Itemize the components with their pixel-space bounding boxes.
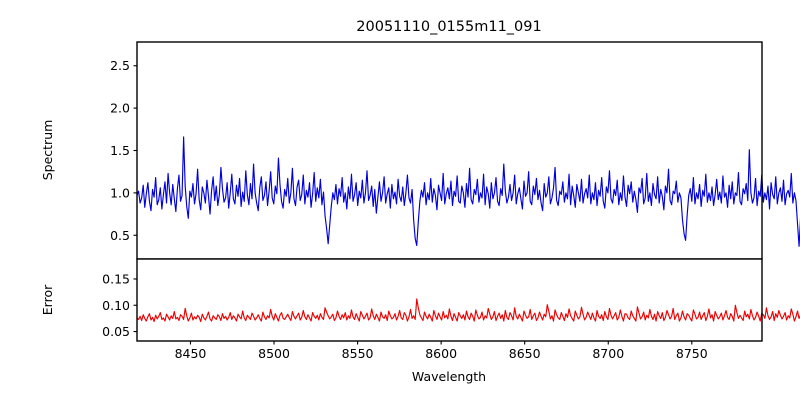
x-axis-label: Wavelength	[412, 369, 486, 384]
x-tick-label: 8550	[342, 346, 374, 361]
figure-title: 20051110_0155m11_091	[356, 19, 541, 35]
error-plot-area	[137, 259, 762, 341]
y-tick-label: 2.0	[110, 101, 130, 116]
y-tick-label: 0.5	[110, 228, 130, 243]
spectrum-y-axis-label: Spectrum	[40, 120, 55, 181]
spectrum-plot-area	[137, 42, 762, 259]
x-tick-label: 8750	[676, 346, 708, 361]
figure-canvas: 20051110_0155m11_091 0.51.01.52.02.5 Spe…	[0, 0, 800, 400]
x-tick-label: 8700	[592, 346, 624, 361]
y-tick-label: 2.5	[110, 58, 130, 73]
x-tick-label: 8600	[425, 346, 457, 361]
x-tick-label: 8450	[175, 346, 207, 361]
x-tick-label: 8500	[258, 346, 290, 361]
error-y-axis-label: Error	[40, 284, 55, 315]
y-tick-label: 1.5	[110, 143, 130, 158]
matplotlib-figure: 20051110_0155m11_091 0.51.01.52.02.5 Spe…	[0, 0, 800, 400]
spectrum-panel: 0.51.01.52.02.5 Spectrum	[40, 42, 800, 263]
y-tick-label: 0.15	[102, 271, 130, 286]
x-tick-label: 8650	[509, 346, 541, 361]
y-tick-label: 0.10	[102, 298, 130, 313]
y-tick-label: 1.0	[110, 185, 130, 200]
y-tick-label: 0.05	[102, 324, 130, 339]
